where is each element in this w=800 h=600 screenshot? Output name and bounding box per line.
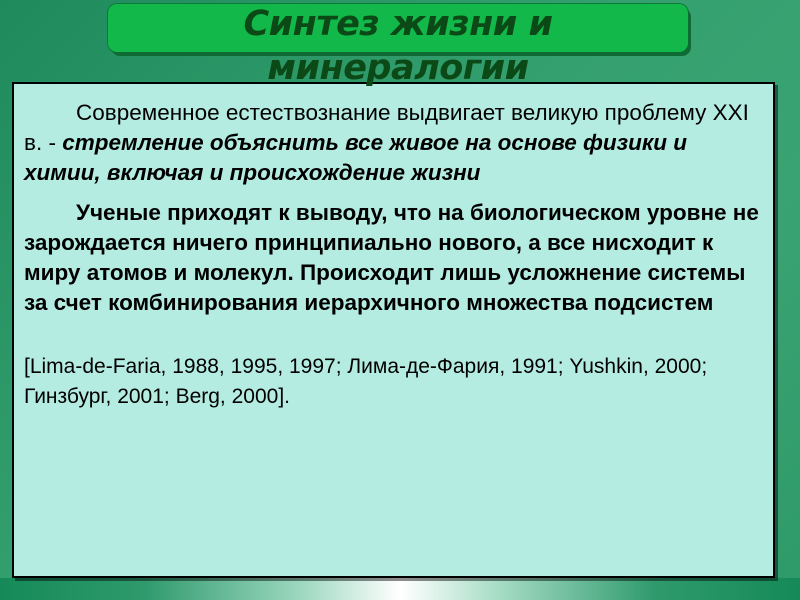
bottom-decorative-band: [0, 578, 800, 600]
paragraph-2-text: Ученые приходят к выводу, что на биологи…: [24, 200, 759, 315]
title-plate: [108, 4, 688, 52]
citation-references: [Lima-de-Faria, 1988, 1995, 1997; Лима-д…: [24, 352, 759, 412]
content-box: Современное естествознание выдвигает вел…: [12, 82, 775, 578]
paragraph-2: Ученые приходят к выводу, что на биологи…: [24, 198, 759, 318]
content-body: Современное естествознание выдвигает вел…: [14, 84, 773, 412]
slide-canvas: Синтез жизни и минералогии Современное е…: [0, 0, 800, 600]
paragraph-1-emphasis: стремление объяснить все живое на основе…: [24, 130, 687, 185]
paragraph-1: Современное естествознание выдвигает вел…: [24, 98, 759, 188]
